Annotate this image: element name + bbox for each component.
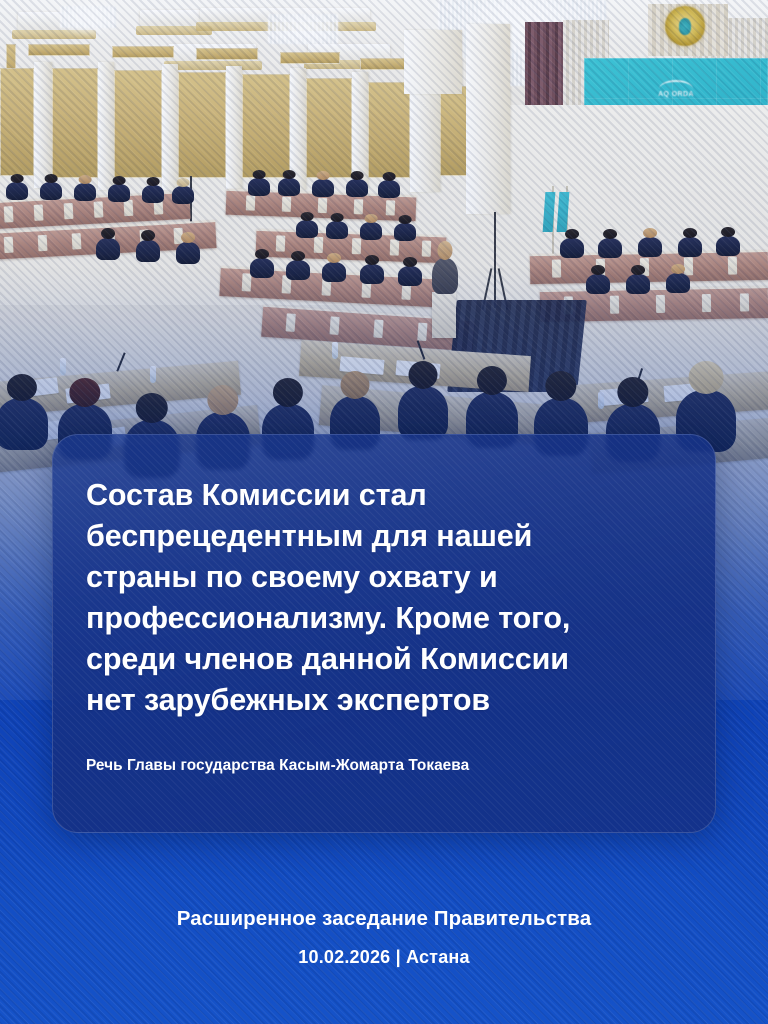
footer: Расширенное заседание Правительства 10.0… [0,905,768,968]
poster-root: AQ ORDA КОНСТИТУЦИЯЛЫҚ РЕФОРМА ЖӨНІНДЕГІ… [0,0,768,1024]
quote-card: Состав Комиссии стал беспрецедентным для… [52,434,716,833]
quote-text: Состав Комиссии стал беспрецедентным для… [86,475,691,721]
footer-date-location: 10.02.2026 | Астана [0,947,768,968]
quote-attribution: Речь Главы государства Касым-Жомарта Ток… [86,757,691,775]
footer-event-title: Расширенное заседание Правительства [0,905,768,933]
